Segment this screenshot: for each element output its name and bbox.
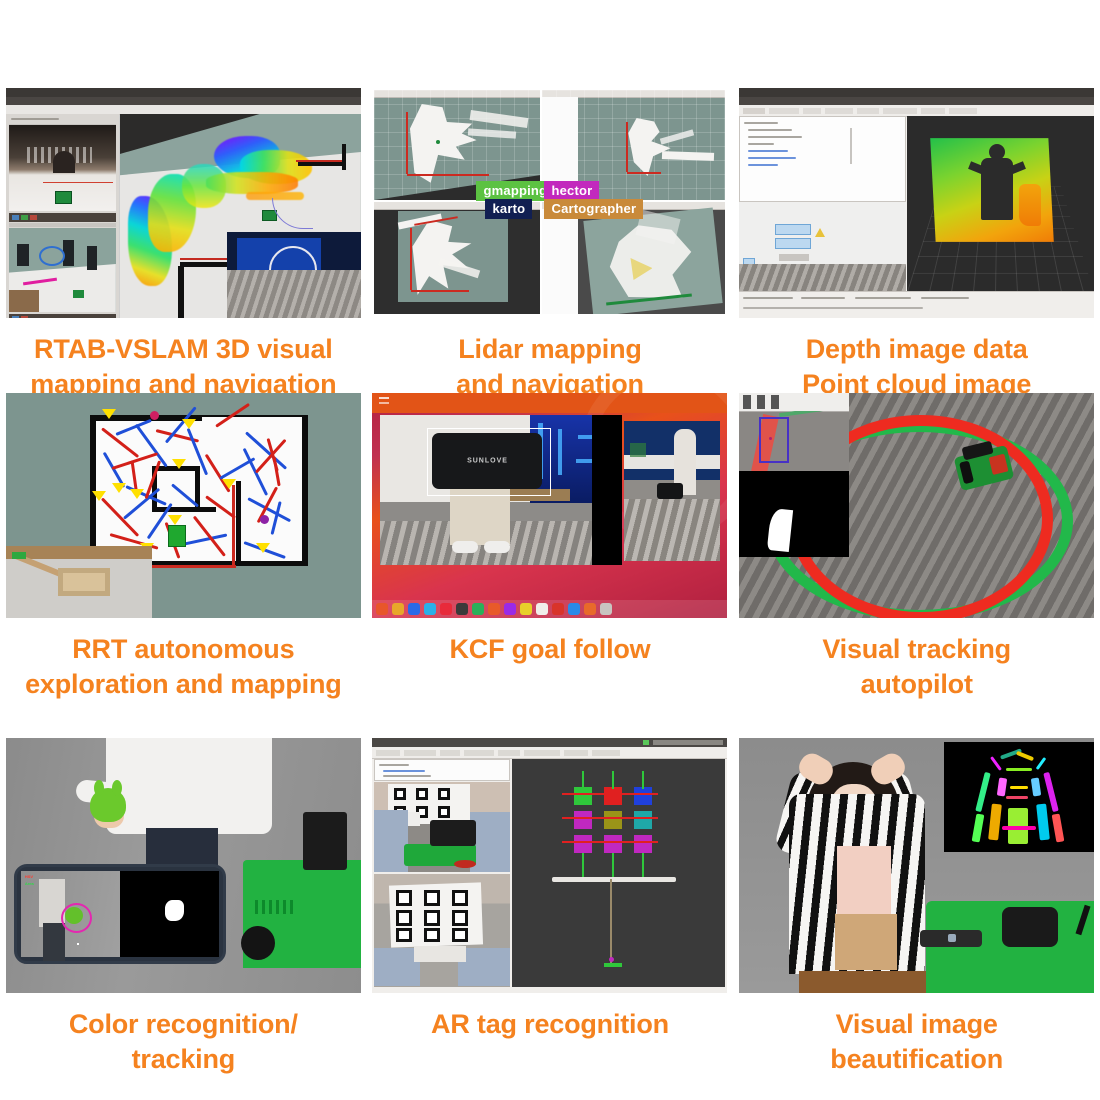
robot-marker (168, 525, 186, 547)
ar-marker-cube (634, 835, 652, 853)
caption-line-1: Visual image (742, 1007, 1092, 1042)
frontier-marker (168, 515, 182, 525)
ar-marker-cube (604, 835, 622, 853)
frontier-marker (130, 489, 144, 499)
camera-view-bottom (9, 228, 116, 312)
camera-view-2 (374, 874, 510, 987)
frontier-marker (112, 483, 126, 493)
caption-rrt-exploration: RRT autonomous exploration and mapping (8, 632, 358, 701)
feature-card-rtab-vslam[interactable]: RTAB-VSLAM 3D visual mapping and navigat… (0, 88, 367, 393)
screenshot-visual-tracking (739, 393, 1094, 618)
displays-tree-panel[interactable] (374, 759, 510, 781)
frontier-marker (92, 491, 106, 501)
caption-rtab-vslam: RTAB-VSLAM 3D visual mapping and navigat… (8, 332, 358, 401)
phone-camera-feed: HSV Area (21, 871, 120, 957)
edge-detection-inset (944, 742, 1094, 852)
feature-card-beautification[interactable]: Visual image beautification (733, 738, 1100, 1088)
inset-camera-view (739, 393, 849, 471)
rviz-marker-view[interactable] (512, 759, 725, 987)
caption-depth-pointcloud: Depth image data Point cloud image (742, 332, 1092, 401)
ar-marker-cube (574, 811, 592, 829)
caption-line-2: beautification (742, 1042, 1092, 1077)
binary-mask (165, 900, 184, 921)
label-hector: hector (544, 181, 599, 201)
feature-card-color-recognition[interactable]: HSV Area Color recognition/ tracking (0, 738, 367, 1088)
screenshot-rtab-vslam (6, 88, 361, 318)
depth-camera (920, 930, 982, 947)
robot-camera-mast (303, 812, 347, 870)
caption-line-1: RRT autonomous (8, 632, 358, 667)
camera-view-1 (374, 782, 510, 872)
green-plush-toy (90, 788, 126, 822)
feature-card-visual-tracking[interactable]: Visual tracking autopilot (733, 393, 1100, 738)
screenshot-ar-tag (372, 738, 727, 993)
caption-line-1: RTAB-VSLAM 3D visual (8, 332, 358, 367)
screenshot-beautification (739, 738, 1094, 993)
screenshot-rrt-exploration (6, 393, 361, 618)
label-cartographer: Cartographer (544, 199, 643, 219)
detected-line-box (759, 417, 789, 463)
camera-photo-panel (739, 202, 906, 292)
caption-beautification: Visual image beautification (742, 1007, 1092, 1076)
panel-toolbar-bottom (9, 314, 116, 318)
feature-card-rrt-exploration[interactable]: RRT autonomous exploration and mapping (0, 393, 367, 738)
color-detection-circle (61, 903, 92, 933)
feature-card-ar-tag[interactable]: AR tag recognition (367, 738, 734, 1088)
caption-line-1: Lidar mapping (375, 332, 725, 367)
binary-mask (767, 508, 793, 552)
overlay-hsv-text: HSV (25, 874, 33, 879)
window-titlebar (372, 738, 727, 747)
frontier-marker (222, 479, 236, 489)
ar-marker-cube (604, 811, 622, 829)
inset-desk-photo (6, 546, 152, 618)
frontier-marker (256, 543, 270, 553)
overlay-area-text: Area (25, 881, 34, 886)
inset-mask-view (739, 471, 849, 557)
label-karto: karto (485, 199, 532, 219)
rviz-3d-view[interactable] (120, 114, 361, 318)
caption-line-2: tracking (8, 1042, 358, 1077)
camera-view-top (9, 125, 116, 211)
desktop-dock[interactable] (372, 600, 727, 618)
caption-line-1: Visual tracking (742, 632, 1092, 667)
screenshot-color-recognition: HSV Area (6, 738, 361, 993)
displays-tree-panel[interactable] (739, 116, 906, 202)
ar-marker-cube (634, 787, 652, 805)
goal-marker (150, 411, 159, 420)
caption-line-1: Color recognition/ (8, 1007, 358, 1042)
pointcloud-3d-view[interactable] (907, 116, 1094, 292)
ar-marker-cube (574, 835, 592, 853)
panel-toolbar-top (9, 213, 116, 222)
ar-marker-cube (574, 787, 592, 805)
picture-in-picture-camera (227, 232, 361, 318)
caption-color-recognition: Color recognition/ tracking (8, 1007, 358, 1076)
ar-marker-cube (634, 811, 652, 829)
window-topbar (6, 88, 361, 97)
frontier-marker (102, 409, 116, 419)
label-gmapping: gmapping (476, 181, 554, 201)
screenshot-kcf-follow: SUNLOVE (372, 393, 727, 618)
caption-line-2: autopilot (742, 667, 1092, 702)
caption-ar-tag: AR tag recognition (375, 1007, 725, 1042)
feature-card-depth-pointcloud[interactable]: Depth image data Point cloud image (733, 88, 1100, 393)
phone-mask-feed (120, 871, 219, 957)
window-titlebar (6, 97, 361, 105)
caption-visual-tracking: Visual tracking autopilot (742, 632, 1092, 701)
feature-card-kcf-follow[interactable]: SUNLOVE (367, 393, 734, 738)
tracking-bounding-box (427, 428, 551, 496)
status-bar (739, 291, 1094, 318)
window-titlebar (739, 97, 1094, 105)
feature-grid: RTAB-VSLAM 3D visual mapping and navigat… (0, 0, 1100, 1100)
screenshot-depth-pointcloud (739, 88, 1094, 318)
caption-line-2: exploration and mapping (8, 667, 358, 702)
tracker-window[interactable]: SUNLOVE (380, 415, 622, 565)
goal-marker (260, 515, 269, 524)
secondary-camera-window[interactable] (624, 421, 720, 561)
frontier-marker (172, 459, 186, 469)
rviz-toolbar[interactable] (372, 747, 727, 759)
caption-lidar-mapping: Lidar mapping and navigation (375, 332, 725, 401)
caption-line-1: KCF goal follow (375, 632, 725, 667)
lidar-sensor (1002, 907, 1058, 947)
caption-kcf-follow: KCF goal follow (375, 632, 725, 667)
ar-marker-cube (604, 787, 622, 805)
screenshot-lidar-mapping: gmapping hector karto Cartographer (372, 88, 727, 318)
window-topbar (739, 88, 1094, 97)
frontier-marker (182, 419, 196, 429)
phone-display[interactable]: HSV Area (14, 864, 226, 964)
robot-chassis (243, 860, 361, 968)
caption-line-1: AR tag recognition (375, 1007, 725, 1042)
caption-line-1: Depth image data (742, 332, 1092, 367)
feature-card-lidar-mapping[interactable]: gmapping hector karto Cartographer Lidar… (367, 88, 734, 393)
